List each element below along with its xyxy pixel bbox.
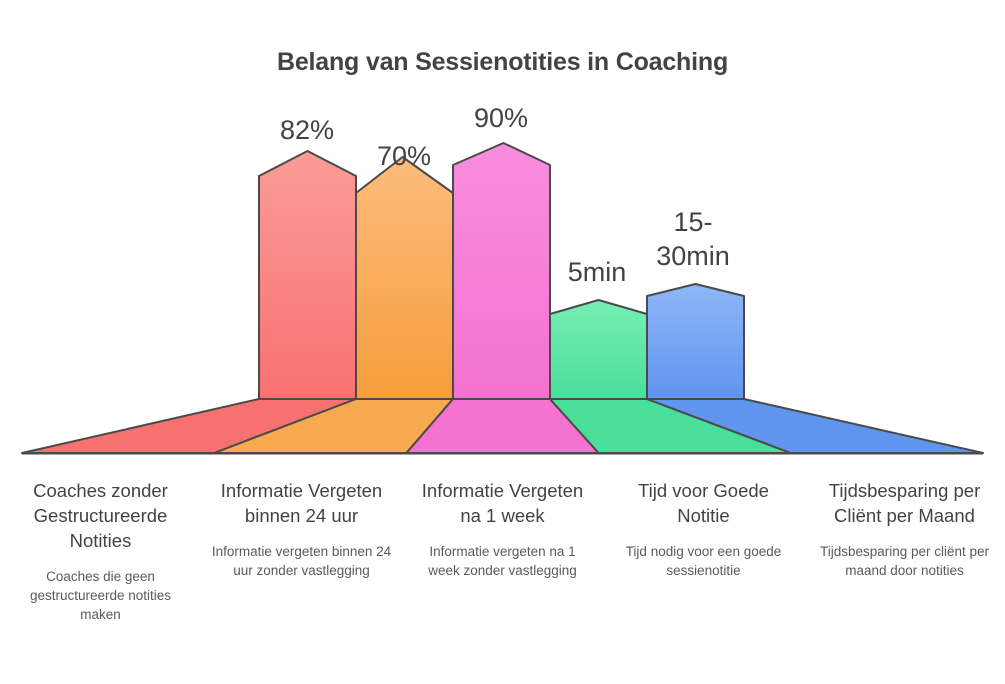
bar-value-label: 82% xyxy=(280,115,334,145)
bar-value-label: 70% xyxy=(377,141,431,171)
legend-description: Tijd nodig voor een goede sessienotitie xyxy=(614,542,794,580)
legend-label: Tijd voor Goede Notitie xyxy=(619,478,789,528)
chart-legend: Coaches zonder Gestructureerde Notities … xyxy=(0,478,1005,658)
legend-item: Tijd voor Goede Notitie Tijd nodig voor … xyxy=(603,478,804,580)
legend-label: Informatie Vergeten binnen 24 uur xyxy=(217,478,387,528)
legend-description: Tijdsbesparing per cliënt per maand door… xyxy=(815,542,995,580)
chart-base-perspective xyxy=(22,399,983,453)
legend-description: Coaches die geen gestructureerde notitie… xyxy=(11,567,191,624)
legend-item: Coaches zonder Gestructureerde Notities … xyxy=(0,478,201,624)
legend-label: Coaches zonder Gestructureerde Notities xyxy=(16,478,186,553)
bar-column xyxy=(453,143,550,399)
legend-label: Tijdsbesparing per Cliënt per Maand xyxy=(820,478,990,528)
legend-item: Informatie Vergeten na 1 week Informatie… xyxy=(402,478,603,580)
bar-value-label: 15-30min xyxy=(656,207,730,271)
bar-column xyxy=(259,151,356,399)
legend-description: Informatie vergeten na 1 week zonder vas… xyxy=(413,542,593,580)
legend-item: Informatie Vergeten binnen 24 uur Inform… xyxy=(201,478,402,580)
legend-label: Informatie Vergeten na 1 week xyxy=(418,478,588,528)
bar-value-label: 5min xyxy=(568,257,627,287)
bar-column xyxy=(647,284,744,399)
chart-bars xyxy=(259,143,744,399)
legend-item: Tijdsbesparing per Cliënt per Maand Tijd… xyxy=(804,478,1005,580)
infographic-chart: Belang van Sessienotities in Coaching 82… xyxy=(0,0,1005,684)
legend-description: Informatie vergeten binnen 24 uur zonder… xyxy=(212,542,392,580)
bar-column xyxy=(356,157,453,399)
bar-column xyxy=(550,300,647,399)
bar-value-label: 90% xyxy=(474,103,528,133)
